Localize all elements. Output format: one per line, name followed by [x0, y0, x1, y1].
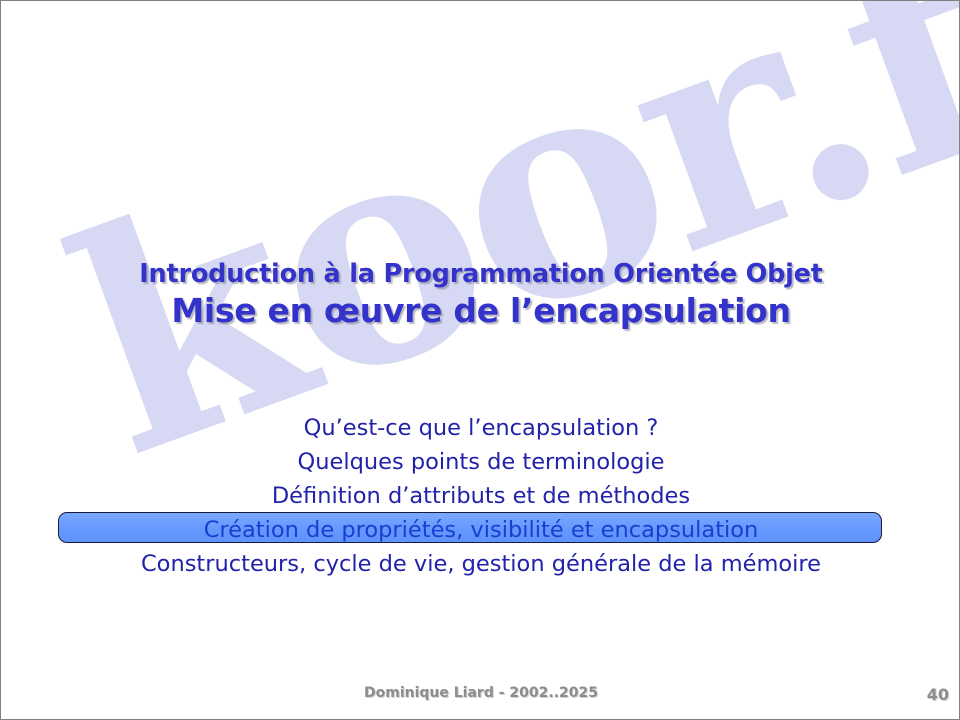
- title-block: Introduction à la Programmation Orientée…: [1, 259, 960, 333]
- agenda-list: Qu’est-ce que l’encapsulation ? Quelques…: [1, 411, 960, 581]
- slide-subtitle: Introduction à la Programmation Orientée…: [1, 259, 960, 290]
- agenda-item-2[interactable]: Quelques points de terminologie: [1, 445, 960, 479]
- agenda-item-4-current[interactable]: Création de propriétés, visibilité et en…: [1, 513, 960, 547]
- slide-footer: Dominique Liard - 2002..2025 40: [1, 685, 960, 711]
- page-number: 40: [927, 685, 949, 704]
- footer-author: Dominique Liard - 2002..2025: [1, 685, 960, 701]
- agenda-item-5[interactable]: Constructeurs, cycle de vie, gestion gén…: [1, 547, 960, 581]
- agenda-item-3[interactable]: Définition d’attributs et de méthodes: [1, 479, 960, 513]
- slide-canvas: koor.fr Introduction à la Programmation …: [0, 0, 960, 720]
- page-title: Mise en œuvre de l’encapsulation: [1, 290, 960, 333]
- agenda-item-1[interactable]: Qu’est-ce que l’encapsulation ?: [1, 411, 960, 445]
